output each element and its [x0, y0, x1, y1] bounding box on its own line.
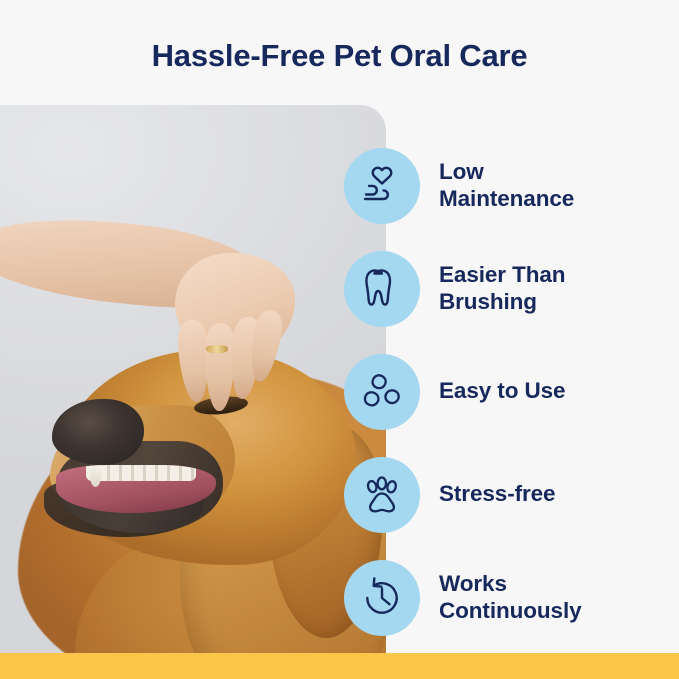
feature-label: Easier Than Brushing — [439, 262, 565, 314]
pet-oral-care-infographic: Hassle-Free Pet Oral Care — [0, 0, 679, 679]
feature-item-stress-free: Stress-free — [344, 443, 679, 546]
feature-label: Works Continuously — [439, 571, 582, 623]
hero-photo — [0, 105, 386, 653]
dog-nose — [52, 399, 144, 465]
page-title: Hassle-Free Pet Oral Care — [0, 38, 679, 74]
dog-teeth — [86, 465, 196, 481]
chews-icon — [344, 354, 420, 430]
feature-label: Stress-free — [439, 481, 555, 507]
feature-item-works-continuously: Works Continuously — [344, 546, 679, 649]
feature-item-easier-than-brushing: Easier Than Brushing — [344, 237, 679, 340]
bottom-accent-bar — [0, 653, 679, 679]
feature-label: Low Maintenance — [439, 159, 574, 211]
feature-item-easy-to-use: Easy to Use — [344, 340, 679, 443]
finger-ring — [206, 345, 228, 353]
tooth-icon — [344, 251, 420, 327]
feature-list: Low Maintenance Easier Than Brushing Eas… — [344, 134, 679, 649]
feature-item-low-maintenance: Low Maintenance — [344, 134, 679, 237]
clock-repeat-icon — [344, 560, 420, 636]
heart-in-hand-icon — [344, 148, 420, 224]
paw-print-icon — [344, 457, 420, 533]
feature-label: Easy to Use — [439, 378, 565, 404]
dog-canine-tooth — [90, 465, 101, 487]
